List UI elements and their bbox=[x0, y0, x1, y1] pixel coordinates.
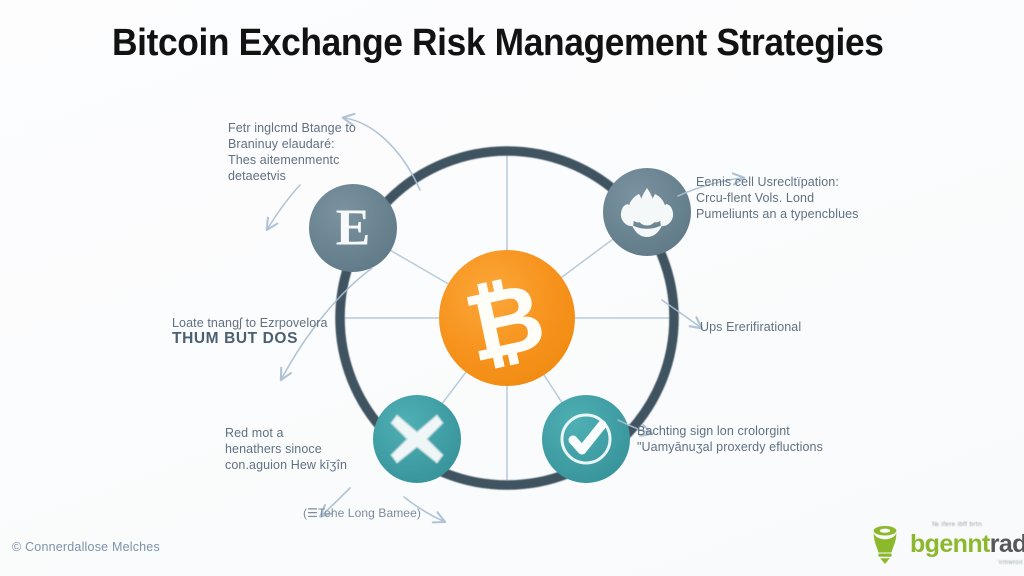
logo-word-green: bgennt bbox=[910, 530, 990, 558]
annotation-line: Loate tnangʃ to Ezrpovelora bbox=[172, 315, 328, 331]
node-verified[interactable] bbox=[542, 395, 630, 483]
logo-sub-microtext: ’lrmwroıt bfiCtj bbox=[997, 560, 1024, 566]
logo-text: № ifere ibff brtn bgenntrads ’lrmwroıt b… bbox=[910, 532, 1024, 557]
annotation-line: Braninuy elaudaré: bbox=[228, 136, 356, 152]
center-bitcoin[interactable]: ₿ bbox=[439, 250, 575, 386]
annotation-emphasis: THUM BUT DOS bbox=[172, 331, 328, 347]
risk-wheel-diagram: E bbox=[0, 0, 1024, 576]
annotation-line: Bachting sign lon crolorgint bbox=[637, 423, 823, 439]
letter-e-icon: E bbox=[336, 200, 371, 257]
annotation-mid-left: Loate tnangʃ to Ezrpovelora THUM BUT DOS bbox=[172, 315, 328, 347]
annotation-bottom-center: (☰Tehe Long Bamee) bbox=[303, 505, 421, 521]
annotation-line: (☰Tehe Long Bamee) bbox=[303, 505, 421, 521]
annotation-line: Eemis cell Usrecltïpation: bbox=[696, 174, 859, 190]
logo-wordmark: bgenntrads bbox=[910, 532, 1024, 557]
annotation-top-left: Fetr inglcmd Btange to Braninuy elaudaré… bbox=[228, 120, 356, 184]
node-exchange[interactable]: E bbox=[309, 184, 397, 272]
annotation-mid-right: Ups Ererifirational bbox=[700, 319, 801, 335]
brand-logo[interactable]: № ifere ibff brtn bgenntrads ’lrmwroıt b… bbox=[866, 518, 1012, 570]
infographic-canvas: Bitcoin Exchange Risk Management Strateg… bbox=[0, 0, 1024, 576]
annotation-line: con.aguion Hew kīʒîn bbox=[225, 457, 347, 473]
node-close[interactable] bbox=[373, 395, 461, 483]
copyright-watermark: © Connerdallose Melches bbox=[12, 540, 160, 554]
annotation-line: Ups Ererifirational bbox=[700, 319, 801, 335]
annotation-line: Pumeliunts an a typencblues bbox=[696, 206, 859, 222]
annotation-line: henathers sinoce bbox=[225, 441, 347, 457]
logo-top-microtext: № ifere ibff brtn bbox=[932, 522, 982, 529]
annotation-line: Thes aitemenmentc bbox=[228, 152, 356, 168]
annotation-line: Red mot a bbox=[225, 425, 347, 441]
annotation-line: "Uamyānuʒal proxerdy efluctions bbox=[637, 439, 823, 455]
node-lotus[interactable] bbox=[603, 168, 691, 256]
annotation-line: Crcu-flent Vols. Lond bbox=[696, 190, 859, 206]
annotation-bottom-right: Bachting sign lon crolorgint "Uamyānuʒal… bbox=[637, 423, 823, 455]
annotation-line: detaeetvis bbox=[228, 168, 356, 184]
green-bulb-icon bbox=[866, 524, 904, 564]
logo-word-dark: rads bbox=[990, 530, 1024, 558]
annotation-top-right: Eemis cell Usrecltïpation: Crcu-flent Vo… bbox=[696, 174, 859, 222]
annotation-line: Fetr inglcmd Btange to bbox=[228, 120, 356, 136]
annotation-bottom-left: Red mot a henathers sinoce con.aguion He… bbox=[225, 425, 347, 473]
